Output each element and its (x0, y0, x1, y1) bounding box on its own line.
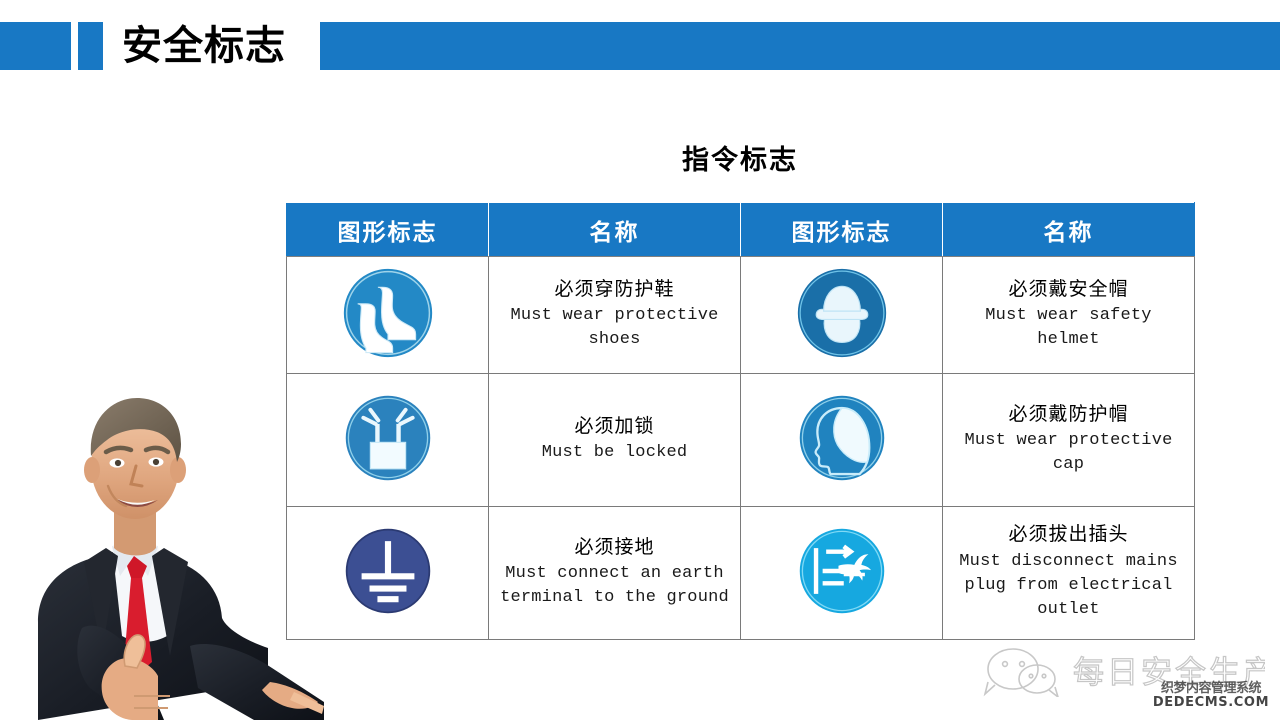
sign-name-cn: 必须接地 (495, 536, 734, 561)
table-row: 必须穿防护鞋 Must wear protective shoes (287, 257, 1195, 374)
sign-icon-cell (741, 257, 943, 374)
header-accent-block-tab (78, 22, 103, 70)
sign-icon-cell (741, 507, 943, 640)
safety-helmet-icon (796, 267, 888, 359)
protective-cap-icon (798, 394, 886, 482)
column-header-name-1: 名称 (489, 203, 741, 257)
sign-name-cell: 必须戴安全帽 Must wear safety helmet (943, 257, 1195, 374)
sign-name-cn: 必须拔出插头 (949, 523, 1188, 548)
header-accent-bar-right (320, 22, 1280, 70)
sign-name-cn: 必须穿防护鞋 (495, 278, 734, 303)
sign-name-en: Must disconnect mains plug from electric… (949, 550, 1188, 622)
sign-name-cn: 必须加锁 (495, 415, 734, 440)
sign-icon-cell (287, 374, 489, 507)
earth-ground-icon (344, 527, 432, 615)
table-head: 图形标志 名称 图形标志 名称 (287, 203, 1195, 257)
sign-name-en: Must wear protective shoes (495, 304, 734, 352)
sign-icon-cell (741, 374, 943, 507)
sign-name-cell: 必须穿防护鞋 Must wear protective shoes (489, 257, 741, 374)
sign-name-cn: 必须戴防护帽 (949, 403, 1188, 428)
disconnect-plug-icon (798, 527, 886, 615)
slide-header: 安全标志 (0, 22, 1280, 70)
dedecms-watermark-en: DEDECMS.COM (1150, 696, 1272, 710)
header-accent-block-left (0, 22, 71, 70)
sign-name-cell: 必须接地 Must connect an earth terminal to t… (489, 507, 741, 640)
table-header-row: 图形标志 名称 图形标志 名称 (287, 203, 1195, 257)
safety-shoes-icon (342, 267, 434, 359)
sign-name-cn: 必须戴安全帽 (949, 278, 1188, 303)
page-title: 安全标志 (122, 20, 300, 72)
sign-name-en: Must wear protective cap (949, 429, 1188, 477)
sign-icon-cell (287, 257, 489, 374)
table-row: 必须接地 Must connect an earth terminal to t… (287, 507, 1195, 640)
section-title: 指令标志 (285, 138, 1195, 177)
sign-name-en: Must wear safety helmet (949, 304, 1188, 352)
sign-name-cell: 必须加锁 Must be locked (489, 374, 741, 507)
dedecms-watermark: 织梦内容管理系统 DEDECMS.COM (1150, 682, 1272, 710)
table-row: 必须加锁 Must be locked 必须戴防护帽 (287, 374, 1195, 507)
table-body: 必须穿防护鞋 Must wear protective shoes (287, 257, 1195, 640)
sign-name-en: Must connect an earth terminal to the gr… (495, 562, 734, 610)
presenter-photo (0, 360, 324, 720)
column-header-graphic-2: 图形标志 (741, 203, 943, 257)
padlock-icon (344, 394, 432, 482)
slide-root: 安全标志 指令标志 图形标志 名称 图形标志 名称 (0, 0, 1280, 720)
sign-name-en: Must be locked (495, 441, 734, 465)
column-header-name-2: 名称 (943, 203, 1195, 257)
dedecms-watermark-cn: 织梦内容管理系统 (1150, 682, 1272, 696)
sign-name-cell: 必须戴防护帽 Must wear protective cap (943, 374, 1195, 507)
column-header-graphic-1: 图形标志 (287, 203, 489, 257)
mandatory-signs-table: 图形标志 名称 图形标志 名称 (286, 202, 1195, 640)
sign-icon-cell (287, 507, 489, 640)
sign-name-cell: 必须拔出插头 Must disconnect mains plug from e… (943, 507, 1195, 640)
